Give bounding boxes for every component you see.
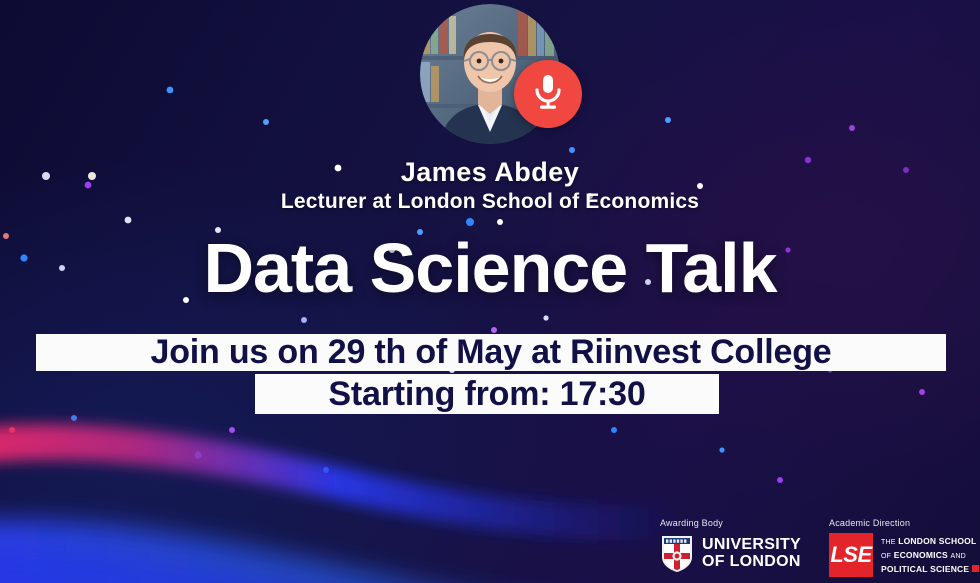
awarding-body-block: Awarding Body <box>660 518 801 577</box>
lse-word-political-science: POLITICAL SCIENCE <box>881 564 969 574</box>
footer-logos: Awarding Body <box>660 518 972 577</box>
lse-mark-text: LSE <box>830 542 871 568</box>
uol-line-1: UNIVERSITY <box>702 536 801 553</box>
microphone-icon <box>531 73 565 116</box>
lse-mark: LSE <box>829 533 873 577</box>
avatar-wrapper <box>420 4 560 144</box>
page-title: Data Science Talk <box>0 230 980 306</box>
speaker-block: James Abdey Lecturer at London School of… <box>0 4 980 214</box>
lse-red-square-icon <box>972 565 979 572</box>
microphone-badge <box>514 60 582 128</box>
lse-wordmark: THE LONDON SCHOOL OF ECONOMICS AND POLIT… <box>881 535 979 575</box>
lse-word-and: AND <box>951 553 966 560</box>
speaker-name: James Abdey <box>0 157 980 188</box>
university-of-london-shield-icon <box>660 533 694 573</box>
lse-logo-icon: LSE THE LONDON SCHOOL OF ECONOMICS AND P… <box>829 533 979 577</box>
awarding-body-caption: Awarding Body <box>660 518 801 528</box>
uol-line-2: OF LONDON <box>702 553 801 570</box>
university-of-london-wordmark: UNIVERSITY OF LONDON <box>702 536 801 570</box>
lse-word-the: THE <box>881 539 896 546</box>
university-of-london-logo: UNIVERSITY OF LONDON <box>660 533 801 573</box>
lse-word-economics: ECONOMICS <box>894 550 948 560</box>
event-banner-time: Starting from: 17:30 <box>255 374 719 414</box>
academic-direction-caption: Academic Direction <box>829 518 979 528</box>
academic-direction-block: Academic Direction LSE THE LONDON SCHOOL… <box>829 518 979 577</box>
poster-canvas: James Abdey Lecturer at London School of… <box>0 0 980 583</box>
speaker-role: Lecturer at London School of Economics <box>0 190 980 214</box>
lse-word-of: OF <box>881 553 891 560</box>
event-banner-date: Join us on 29 th of May at Riinvest Coll… <box>36 334 946 371</box>
lse-word-london-school: LONDON SCHOOL <box>898 536 976 546</box>
